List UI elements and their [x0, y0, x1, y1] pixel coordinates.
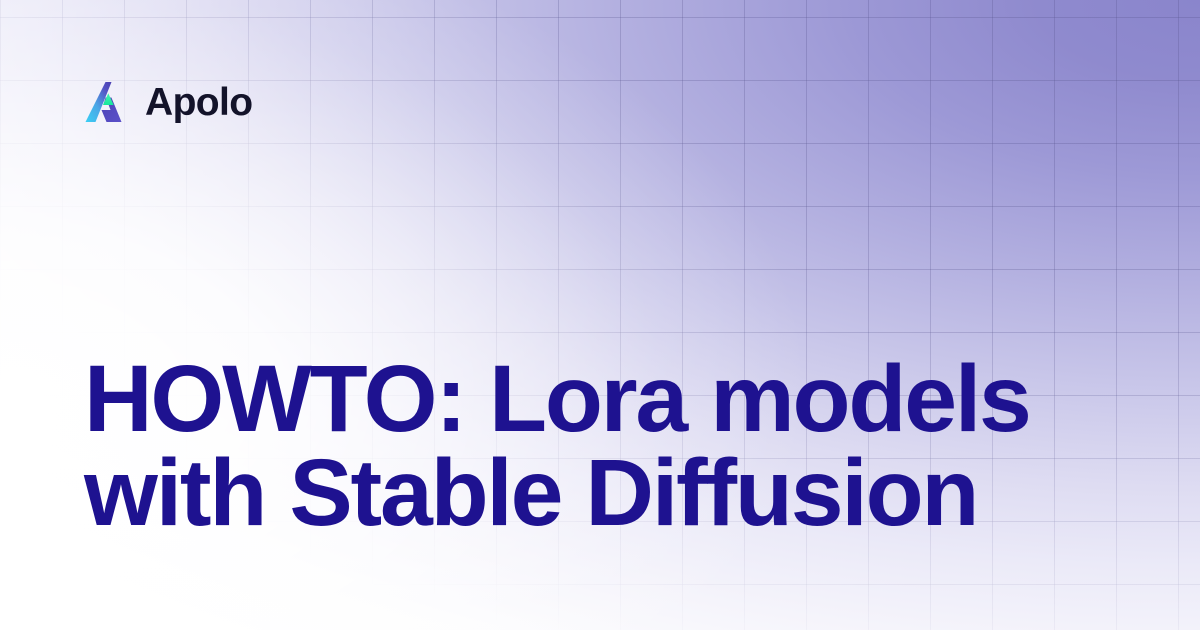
apolo-a-mark-icon [84, 80, 128, 124]
og-card: Apolo HOWTO: Lora models with Stable Dif… [0, 0, 1200, 630]
page-title-line-2: with Stable Diffusion [84, 446, 1104, 540]
page-title-line-1: HOWTO: Lora models [84, 352, 1104, 446]
apolo-logo-mark [84, 80, 128, 124]
brand-name: Apolo [145, 83, 252, 122]
brand-lockup: Apolo [84, 80, 252, 124]
page-title: HOWTO: Lora models with Stable Diffusion [84, 352, 1104, 540]
